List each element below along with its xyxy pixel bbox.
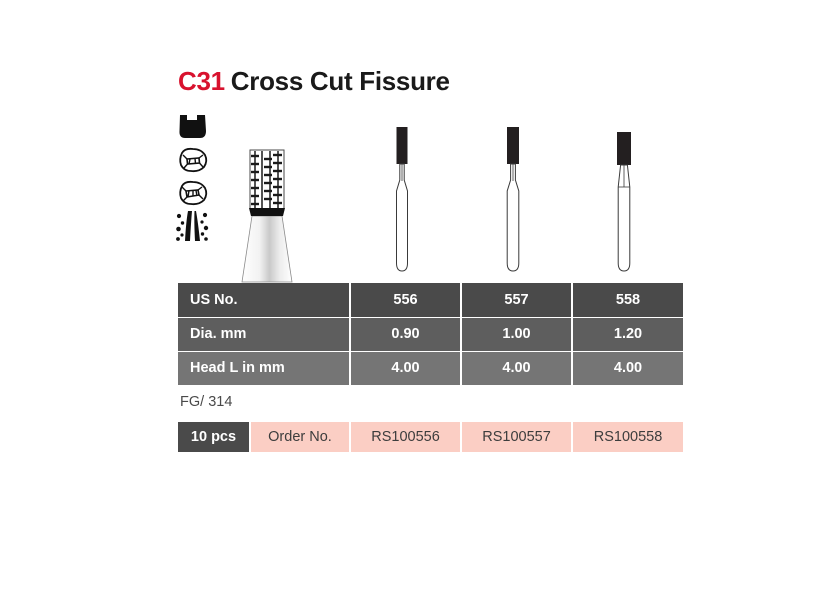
table-row: Dia. mm 0.90 1.00 1.20 [178,317,683,351]
specification-table: US No. 556 557 558 Dia. mm 0.90 1.00 1.2… [178,283,683,385]
order-no-556[interactable]: RS100556 [350,422,461,452]
order-no-558[interactable]: RS100558 [572,422,683,452]
bur-illustrations [176,110,686,282]
magnified-bur-illustration [232,144,302,284]
bur-556-illustration [382,125,422,275]
bur-557-illustration [493,125,533,275]
table-row: US No. 556 557 558 [178,283,683,317]
cell-dia-557: 1.00 [461,317,572,351]
product-page: C31Cross Cut Fissure [0,0,840,597]
cell-dia-558: 1.20 [572,317,683,351]
table-row: Head L in mm 4.00 4.00 4.00 [178,351,683,385]
bur-558-illustration [604,125,644,275]
row-label-head-length: Head L in mm [178,351,350,385]
cell-us-no-558: 558 [572,283,683,317]
shank-type-label: FG/ 314 [180,394,232,410]
product-name: Cross Cut Fissure [231,66,450,96]
product-code: C31 [178,66,225,96]
order-no-label: Order No. [250,422,350,452]
row-label-us-no: US No. [178,283,350,317]
order-table: 10 pcs Order No. RS100556 RS100557 RS100… [178,422,683,452]
row-label-dia: Dia. mm [178,317,350,351]
order-no-557[interactable]: RS100557 [461,422,572,452]
quantity-badge: 10 pcs [178,422,250,452]
table-row: 10 pcs Order No. RS100556 RS100557 RS100… [178,422,683,452]
cell-dia-556: 0.90 [350,317,461,351]
cell-head-length-558: 4.00 [572,351,683,385]
cell-head-length-556: 4.00 [350,351,461,385]
cell-us-no-556: 556 [350,283,461,317]
cell-us-no-557: 557 [461,283,572,317]
cell-head-length-557: 4.00 [461,351,572,385]
page-title: C31Cross Cut Fissure [178,66,450,97]
